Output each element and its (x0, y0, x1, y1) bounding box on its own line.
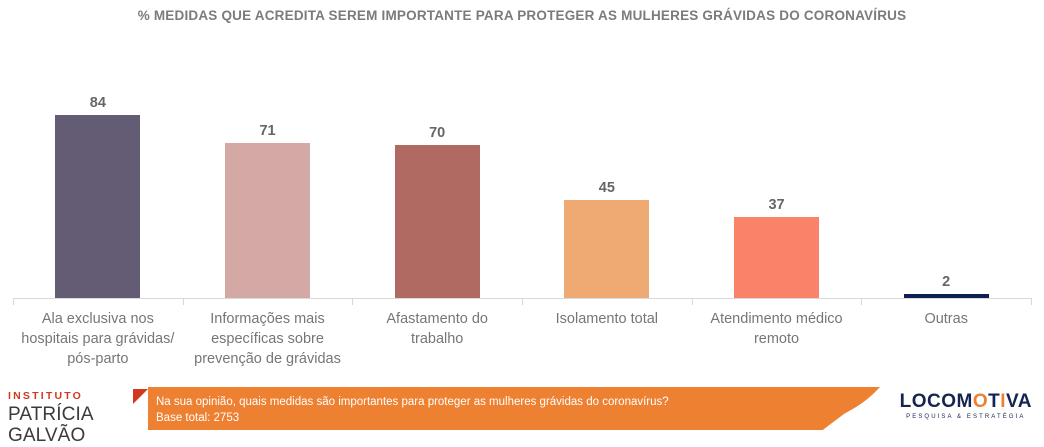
bar-group: 71 (183, 38, 353, 298)
logo-line-patricia-galvao: PATRÍCIA GALVÃO (8, 404, 148, 447)
bar-group: 45 (522, 38, 692, 298)
bar-value-label: 70 (429, 126, 445, 141)
footer-baseline (0, 430, 1044, 432)
category-label-line: Afastamento do (358, 310, 516, 330)
bar-value-label: 84 (90, 96, 106, 111)
bar-group: 2 (861, 38, 1031, 298)
bar-rect (734, 217, 819, 298)
page-title: % MEDIDAS QUE ACREDITA SEREM IMPORTANTE … (0, 8, 1044, 23)
category-label: Informações maisespecíficas sobreprevenç… (183, 306, 353, 370)
locomotiva-wordmark: LOCOMOTIVA (900, 392, 1032, 411)
category-label-line: Outras (867, 310, 1025, 330)
category-label-line: Ala exclusiva nos (19, 310, 177, 330)
base-total: Base total: 2753 (156, 411, 669, 427)
bar-value-label: 2 (942, 275, 950, 290)
bar-group: 37 (692, 38, 862, 298)
category-label-line: trabalho (358, 330, 516, 350)
x-axis-category-labels: Ala exclusiva noshospitais para grávidas… (13, 306, 1031, 370)
category-label-line: remoto (698, 330, 856, 350)
category-label-line: Isolamento total (528, 310, 686, 330)
axis-tick (522, 298, 523, 305)
plot-area: 84717045372 (13, 38, 1031, 298)
bar-value-label: 45 (599, 181, 615, 196)
category-label-line: Informações mais (189, 310, 347, 330)
axis-tick (352, 298, 353, 305)
axis-tick (13, 298, 14, 305)
bar-rect (395, 145, 480, 298)
category-label: Afastamento dotrabalho (352, 306, 522, 370)
logo-line-instituto: INSTITUTO (8, 391, 148, 402)
bar-rect (55, 115, 140, 298)
category-label-line: hospitais para grávidas/ (19, 330, 177, 350)
footer: INSTITUTO PATRÍCIA GALVÃO Na sua opinião… (0, 387, 1044, 432)
category-label-line: Atendimento médico (698, 310, 856, 330)
category-label-line: prevenção de grávidas (189, 350, 347, 370)
locomotiva-tagline: PESQUISA & ESTRATÉGIA (900, 414, 1032, 420)
bar-value-label: 37 (768, 198, 784, 213)
instituto-patricia-galvao-logo: INSTITUTO PATRÍCIA GALVÃO (0, 387, 148, 432)
category-label: Outras (861, 306, 1031, 370)
category-label: Ala exclusiva noshospitais para grávidas… (13, 306, 183, 370)
chart-container: % MEDIDAS QUE ACREDITA SEREM IMPORTANTE … (0, 0, 1044, 439)
bar-group: 70 (352, 38, 522, 298)
bar-rect (564, 200, 649, 298)
category-label: Atendimento médicoremoto (692, 306, 862, 370)
source-note: Na sua opinião, quais medidas são import… (156, 395, 669, 426)
bar-series: 84717045372 (13, 38, 1031, 298)
triangle-accent-icon (133, 389, 148, 404)
category-label: Isolamento total (522, 306, 692, 370)
category-label-line: específicas sobre (189, 330, 347, 350)
bar-rect (225, 143, 310, 298)
axis-tick (861, 298, 862, 305)
bar-group: 84 (13, 38, 183, 298)
locomotiva-logo: LOCOMOTIVA PESQUISA & ESTRATÉGIA (900, 392, 1032, 420)
axis-tick (183, 298, 184, 305)
bar-value-label: 71 (259, 124, 275, 139)
category-label-line: pós-parto (19, 350, 177, 370)
survey-question: Na sua opinião, quais medidas são import… (156, 395, 669, 411)
axis-tick (1031, 298, 1032, 305)
axis-tick (692, 298, 693, 305)
